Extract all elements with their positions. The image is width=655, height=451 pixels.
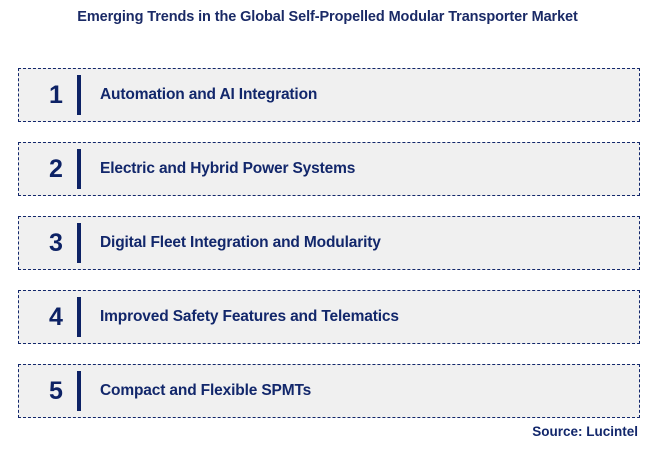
trend-rank-number: 3 bbox=[37, 231, 75, 256]
trend-label: Electric and Hybrid Power Systems bbox=[100, 160, 639, 178]
trend-label: Improved Safety Features and Telematics bbox=[100, 308, 639, 326]
trend-label: Digital Fleet Integration and Modularity bbox=[100, 234, 639, 252]
source-attribution: Source: Lucintel bbox=[532, 424, 638, 439]
trend-rank-number: 2 bbox=[37, 157, 75, 182]
vertical-divider-icon bbox=[77, 297, 81, 337]
trend-list: 1 Automation and AI Integration 2 Electr… bbox=[18, 68, 640, 418]
trend-row-1: 1 Automation and AI Integration bbox=[18, 68, 640, 122]
trend-row-3: 3 Digital Fleet Integration and Modulari… bbox=[18, 216, 640, 270]
trend-label: Automation and AI Integration bbox=[100, 86, 639, 104]
trend-row-2: 2 Electric and Hybrid Power Systems bbox=[18, 142, 640, 196]
trend-rank-number: 1 bbox=[37, 83, 75, 108]
trend-rank-number: 5 bbox=[37, 379, 75, 404]
trend-rank-number: 4 bbox=[37, 305, 75, 330]
page-title: Emerging Trends in the Global Self-Prope… bbox=[0, 9, 655, 25]
vertical-divider-icon bbox=[77, 149, 81, 189]
trend-label: Compact and Flexible SPMTs bbox=[100, 382, 639, 400]
trend-row-5: 5 Compact and Flexible SPMTs bbox=[18, 364, 640, 418]
vertical-divider-icon bbox=[77, 223, 81, 263]
trend-row-4: 4 Improved Safety Features and Telematic… bbox=[18, 290, 640, 344]
infographic-page: Emerging Trends in the Global Self-Prope… bbox=[0, 0, 655, 451]
vertical-divider-icon bbox=[77, 75, 81, 115]
vertical-divider-icon bbox=[77, 371, 81, 411]
